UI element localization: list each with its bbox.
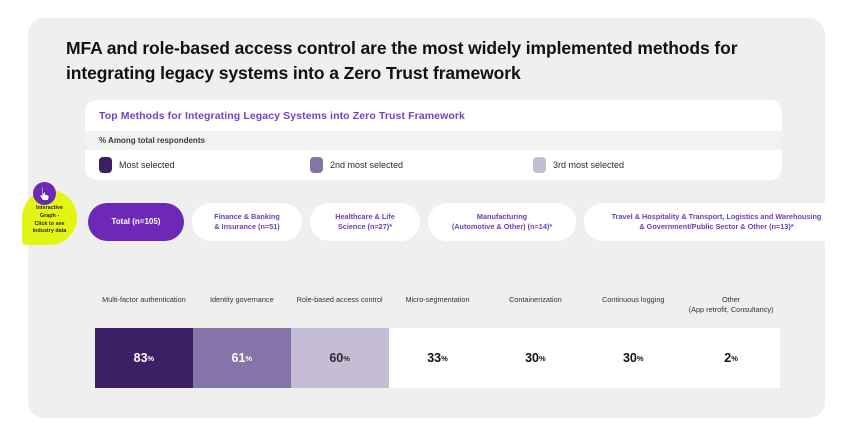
percent-sign: %	[245, 354, 252, 363]
data-value: 83	[134, 351, 148, 365]
badge-line-2: Graph -	[24, 213, 75, 221]
column-header-0: Multi-factor authentication	[95, 293, 193, 321]
chart-subtitle-band: % Among total respondents	[85, 131, 782, 150]
segment-tab-label: Travel & Hospitality & Transport, Logist…	[612, 212, 822, 232]
data-cell-6: 2%	[682, 328, 780, 388]
legend-item-most-selected: Most selected	[99, 157, 175, 173]
legend-swatch-icon	[533, 157, 546, 173]
data-cell-4: 30%	[486, 328, 584, 388]
legend-swatch-icon	[99, 157, 112, 173]
data-value: 30	[525, 351, 539, 365]
percent-sign: %	[441, 354, 448, 363]
segment-tab-label: Finance & Banking& Insurance (n=51)	[214, 212, 280, 232]
legend-label: 3rd most selected	[553, 160, 624, 170]
badge-line-1: Interactive	[24, 205, 75, 213]
percent-sign: %	[539, 354, 546, 363]
data-value: 33	[427, 351, 441, 365]
column-header-1: Identity governance	[193, 293, 291, 321]
column-header-6: Other(App retrofit, Consultancy)	[682, 293, 780, 321]
percent-sign: %	[148, 354, 155, 363]
chart-title: Top Methods for Integrating Legacy Syste…	[99, 110, 465, 122]
data-cell-3: 33%	[389, 328, 487, 388]
interactive-graph-badge[interactable]: Interactive Graph - Click to see industr…	[22, 182, 77, 248]
data-value: 30	[623, 351, 637, 365]
data-value: 60	[329, 351, 343, 365]
badge-label: Interactive Graph - Click to see industr…	[24, 205, 75, 236]
badge-line-4: industry data	[24, 228, 75, 236]
legend-item-3rd-most-selected: 3rd most selected	[533, 157, 624, 173]
column-header-2: Role-based access control	[291, 293, 389, 321]
column-header-3: Micro-segmentation	[389, 293, 487, 321]
segment-tab-label: Total (n=105)	[112, 217, 161, 228]
data-value: 61	[232, 351, 246, 365]
industry-segment-tabs[interactable]: Total (n=105) Finance & Banking& Insuran…	[88, 203, 782, 241]
legend-item-2nd-most-selected: 2nd most selected	[310, 157, 403, 173]
segment-tab-finance[interactable]: Finance & Banking& Insurance (n=51)	[192, 203, 302, 241]
column-header-4: Containerization	[486, 293, 584, 321]
column-header-5: Continuous logging	[584, 293, 682, 321]
chart-column-headers: Multi-factor authenticationIdentity gove…	[95, 293, 780, 321]
data-cell-0: 83%	[95, 328, 193, 388]
segment-tab-total[interactable]: Total (n=105)	[88, 203, 184, 241]
percent-sign: %	[637, 354, 644, 363]
data-cell-2: 60%	[291, 328, 389, 388]
chart-header-panel: Top Methods for Integrating Legacy Syste…	[85, 100, 782, 180]
legend-label: Most selected	[119, 160, 175, 170]
page-title: MFA and role-based access control are th…	[66, 36, 766, 86]
chart-subtitle: % Among total respondents	[99, 136, 205, 145]
chart-data-row: 83%61%60%33%30%30%2%	[95, 328, 780, 388]
percent-sign: %	[731, 354, 738, 363]
hand-pointer-icon	[33, 182, 56, 205]
segment-tab-travel-other[interactable]: Travel & Hospitality & Transport, Logist…	[584, 203, 849, 241]
data-value: 2	[724, 351, 731, 365]
percent-sign: %	[343, 354, 350, 363]
segment-tab-label: Manufacturing(Automotive & Other) (n=14)…	[452, 212, 552, 232]
data-cell-5: 30%	[584, 328, 682, 388]
badge-line-3: Click to see	[24, 221, 75, 229]
legend-label: 2nd most selected	[330, 160, 403, 170]
segment-tab-manufacturing[interactable]: Manufacturing(Automotive & Other) (n=14)…	[428, 203, 576, 241]
data-cell-1: 61%	[193, 328, 291, 388]
segment-tab-label: Healthcare & LifeScience (n=27)*	[335, 212, 395, 232]
segment-tab-healthcare[interactable]: Healthcare & LifeScience (n=27)*	[310, 203, 420, 241]
legend-swatch-icon	[310, 157, 323, 173]
